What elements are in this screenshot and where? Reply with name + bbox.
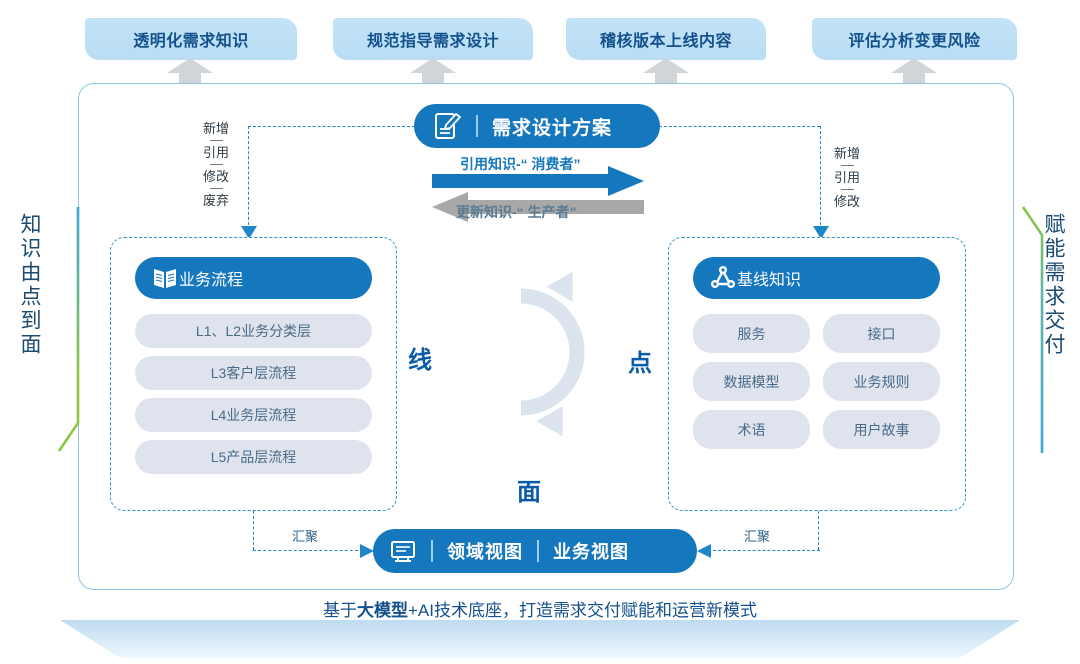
annotation-label: 新增 xyxy=(834,147,860,160)
forward-arrow-label: 引用知识-“ 消费者” xyxy=(460,154,581,174)
bottom-trapezoid xyxy=(60,620,1020,658)
dashed-connector-left-down xyxy=(248,126,249,230)
top-banner-2: 稽核版本上线内容 xyxy=(566,18,766,60)
annotation-label: 新增 xyxy=(203,122,229,135)
knowledge-exchange-arrows: 引用知识-“ 消费者” 更新知识-“ 生产者” xyxy=(432,156,644,228)
open-book-icon xyxy=(151,265,179,291)
top-banner-label: 规范指导需求设计 xyxy=(367,27,499,51)
converge-label-right: 汇聚 xyxy=(744,526,770,545)
dashed-converge-right-v xyxy=(818,511,819,550)
annotation-label: 修改 xyxy=(203,170,229,183)
list-item[interactable]: L3客户层流程 xyxy=(135,356,372,390)
divider xyxy=(537,540,539,562)
dashed-connector-right-top xyxy=(654,126,820,127)
design-plan-title: 需求设计方案 xyxy=(492,113,612,140)
list-item[interactable]: 术语 xyxy=(693,410,810,449)
annotation-label: 引用 xyxy=(203,146,229,159)
top-banner-3: 评估分析变更风险 xyxy=(812,18,1017,60)
cycle-label-point: 点 xyxy=(628,343,652,378)
divider xyxy=(476,115,478,137)
panel-baseline-title: 基线知识 xyxy=(737,266,801,290)
top-banner-label: 评估分析变更风险 xyxy=(848,27,980,51)
panel-business-process: 业务流程 L1、L2业务分类层 L3客户层流程 L4业务层流程 L5产品层流程 xyxy=(110,237,397,511)
dashed-converge-right-h xyxy=(708,550,820,551)
list-item[interactable]: 接口 xyxy=(823,314,940,353)
annotation-label: 废弃 xyxy=(203,194,229,207)
dash-separator xyxy=(841,189,854,190)
dashed-converge-left-v xyxy=(253,511,254,550)
view-title-domain: 领域视图 xyxy=(447,538,523,564)
dash-separator xyxy=(841,165,854,166)
top-banner-0: 透明化需求知识 xyxy=(85,18,297,60)
panel-baseline-items: 服务 接口 数据模型 业务规则 术语 用户故事 xyxy=(693,314,940,449)
cycle-label-line: 线 xyxy=(408,340,432,375)
list-item[interactable]: L5产品层流程 xyxy=(135,440,372,474)
converge-label-left: 汇聚 xyxy=(292,526,318,545)
panel-process-title: 业务流程 xyxy=(179,266,243,290)
panel-baseline-header[interactable]: 基线知识 xyxy=(693,257,940,299)
arrowhead-left-right-icon xyxy=(697,544,711,558)
right-annotation-stack: 新增 引用 修改 xyxy=(834,147,860,208)
document-edit-icon xyxy=(432,111,462,141)
top-banner-1: 规范指导需求设计 xyxy=(333,18,533,60)
list-item[interactable]: 用户故事 xyxy=(823,410,940,449)
top-banner-label: 透明化需求知识 xyxy=(133,27,249,51)
dash-separator xyxy=(210,188,223,189)
dash-separator xyxy=(210,164,223,165)
list-item[interactable]: 数据模型 xyxy=(693,362,810,401)
caption-suffix: +AI技术底座，打造需求交付赋能和运营新模式 xyxy=(408,601,757,620)
top-banner-label: 稽核版本上线内容 xyxy=(600,27,732,51)
circular-cycle-arrow-icon xyxy=(489,252,599,452)
node-cluster-icon xyxy=(709,265,737,291)
dashed-converge-left-h xyxy=(253,550,363,551)
dash-separator xyxy=(210,140,223,141)
list-item[interactable]: L4业务层流程 xyxy=(135,398,372,432)
right-side-text: 赋能需求交付 xyxy=(1038,213,1068,357)
annotation-label: 修改 xyxy=(834,195,860,208)
panel-process-header[interactable]: 业务流程 xyxy=(135,257,372,299)
diagram-canvas: 透明化需求知识 规范指导需求设计 稽核版本上线内容 评估分析变更风险 xyxy=(0,0,1080,664)
divider xyxy=(431,540,433,562)
list-item[interactable]: 服务 xyxy=(693,314,810,353)
caption: 基于大模型+AI技术底座，打造需求交付赋能和运营新模式 xyxy=(0,596,1080,621)
panel-process-items: L1、L2业务分类层 L3客户层流程 L4业务层流程 L5产品层流程 xyxy=(135,314,372,474)
caption-prefix: 基于 xyxy=(323,601,357,620)
caption-bold: 大模型 xyxy=(357,601,408,620)
list-item[interactable]: 业务规则 xyxy=(823,362,940,401)
annotation-label: 引用 xyxy=(834,171,860,184)
left-side-text: 知识由点到面 xyxy=(14,213,44,357)
left-annotation-stack: 新增 引用 修改 废弃 xyxy=(203,122,229,207)
backward-arrow-label: 更新知识-“ 生产者” xyxy=(456,202,577,222)
view-title-business: 业务视图 xyxy=(553,538,629,564)
dashed-connector-right-down xyxy=(820,126,821,230)
dashed-connector-left-top xyxy=(248,126,420,127)
panel-baseline-knowledge: 基线知识 服务 接口 数据模型 业务规则 术语 用户故事 xyxy=(668,237,966,511)
arrowhead-right-left-icon xyxy=(360,544,374,558)
monitor-list-icon xyxy=(389,538,417,564)
left-bracket-icon xyxy=(56,205,82,460)
cycle-label-plane: 面 xyxy=(517,472,541,507)
view-bar[interactable]: 领域视图 业务视图 xyxy=(373,529,697,573)
design-plan-card[interactable]: 需求设计方案 xyxy=(414,104,660,148)
list-item[interactable]: L1、L2业务分类层 xyxy=(135,314,372,348)
